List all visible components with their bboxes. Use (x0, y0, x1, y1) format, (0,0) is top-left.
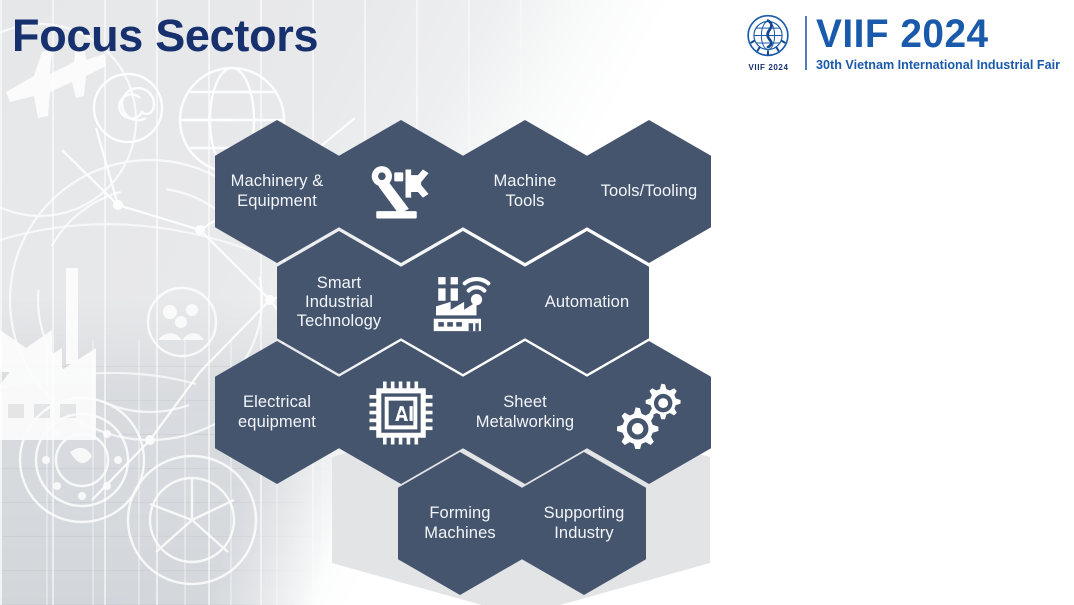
ai-chip-icon (365, 377, 437, 449)
hex-label-supporting-industry: Supporting Industry (544, 504, 625, 542)
hex-label-tools-tooling: Tools/Tooling (601, 182, 698, 201)
hex-label-machine-tools: Machine Tools (493, 172, 556, 210)
smart-factory-icon (427, 267, 499, 339)
robot-arm-icon (365, 156, 437, 228)
hex-cell-machine-tools[interactable]: Machine Tools (463, 120, 587, 263)
slide-root: Focus Sectors VIIF 2024 VIIF 2024 30th V… (0, 0, 1074, 605)
hex-cell-tools-tooling[interactable]: Tools/Tooling (587, 120, 711, 263)
hex-label-forming-machines: Forming Machines (424, 504, 495, 542)
hex-label-automation: Automation (545, 293, 629, 312)
focus-sectors-hex-diagram: Machinery & EquipmentMachine ToolsTools/… (0, 0, 1074, 605)
hex-label-smart-industrial-technology: Smart Industrial Technology (297, 274, 381, 331)
hex-label-sheet-metalworking: Sheet Metalworking (476, 393, 574, 431)
gears-icon (613, 377, 685, 449)
hex-label-machinery-equipment: Machinery & Equipment (231, 172, 324, 210)
hex-cell-robot-arm[interactable] (339, 120, 463, 263)
hex-label-electrical-equipment: Electrical equipment (238, 393, 316, 431)
hex-cell-machinery-equipment[interactable]: Machinery & Equipment (215, 120, 339, 263)
